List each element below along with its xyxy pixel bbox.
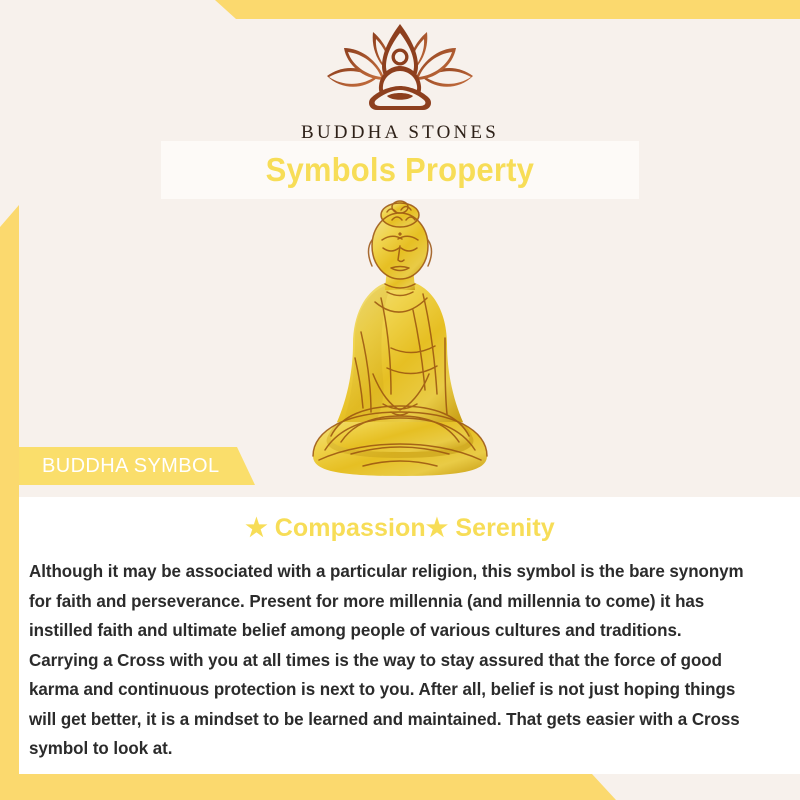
page-root: BUDDHA STONES Symbols Property — [0, 0, 800, 800]
content-paragraph: Although it may be associated with a par… — [29, 557, 745, 764]
page-title: Symbols Property — [266, 151, 534, 189]
seated-golden-buddha-icon — [295, 198, 505, 491]
lotus-meditation-icon — [0, 20, 800, 118]
title-band: Symbols Property — [161, 141, 639, 199]
decor-left-strip — [0, 205, 19, 800]
decor-top-band — [0, 0, 800, 19]
content-subtitle: ★ Compassion★ Serenity — [0, 513, 800, 543]
buddha-symbol-tag-label: BUDDHA SYMBOL — [19, 455, 219, 478]
brand-header: BUDDHA STONES — [0, 20, 800, 144]
decor-bottom-band — [0, 774, 640, 800]
buddha-symbol-tag: BUDDHA SYMBOL — [19, 447, 255, 485]
